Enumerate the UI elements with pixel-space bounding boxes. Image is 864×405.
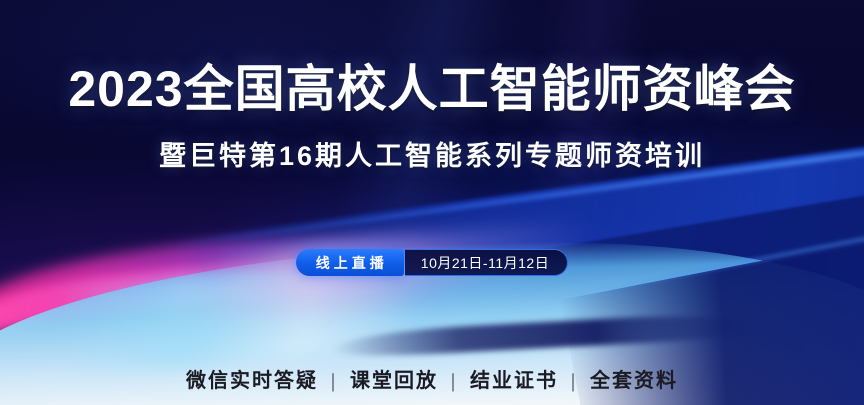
promo-banner: 2023全国高校人工智能师资峰会 暨巨特第16期人工智能系列专题师资培训 线上直… [0,0,864,405]
live-stream-label: 线上直播 [296,249,404,276]
footer-item-3: 全套资料 [590,370,678,392]
footer-separator-1: | [445,370,463,392]
banner-subtitle: 暨巨特第16期人工智能系列专题师资培训 [0,143,864,170]
event-badge-inner: 线上直播 10月21日-11月12日 [296,249,568,276]
banner-title: 2023全国高校人工智能师资峰会 [0,64,864,114]
footer-separator-2: | [565,370,583,392]
footer-item-1: 课堂回放 [350,370,438,392]
footer-item-0: 微信实时答疑 [186,370,318,392]
event-date-range: 10月21日-11月12日 [405,249,568,276]
banner-content: 2023全国高校人工智能师资峰会 暨巨特第16期人工智能系列专题师资培训 线上直… [0,0,864,405]
footer-separator-0: | [325,370,343,392]
event-badge: 线上直播 10月21日-11月12日 [0,249,864,276]
banner-footer: 微信实时答疑 | 课堂回放 | 结业证书 | 全套资料 [0,364,864,393]
footer-item-2: 结业证书 [470,370,558,392]
